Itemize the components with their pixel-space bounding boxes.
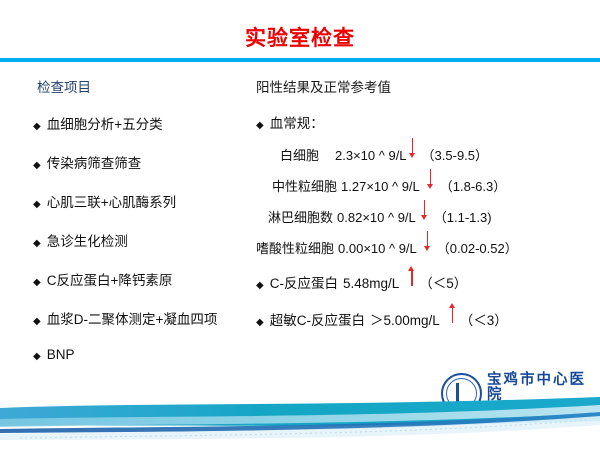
arrow-down-icon: [426, 176, 437, 191]
table-row: 中性粒细胞 1.27×10 ^ 9/L （1.8-6.3）: [256, 176, 596, 195]
list-item: ◆ 传染病筛查筛查: [33, 152, 258, 172]
list-item-label: 传染病筛查筛查: [47, 152, 142, 172]
diamond-bullet-icon: ◆: [33, 200, 41, 210]
lab-name: 白细胞: [280, 145, 319, 164]
list-item: ◆ 超敏C-反应蛋白 ＞5.00mg/L （＜3）: [256, 309, 596, 329]
lab-value: 1.27×10 ^ 9/L: [341, 179, 420, 194]
diamond-bullet-icon: ◆: [33, 352, 41, 362]
diamond-bullet-icon: ◆: [33, 122, 41, 132]
table-row: 淋巴细胞数 0.82×10 ^ 9/L （1.1-1.3): [256, 207, 596, 226]
list-item: ◆ C反应蛋白+降钙素原: [33, 269, 258, 289]
arrow-up-icon: [448, 310, 459, 325]
title-divider: [0, 58, 600, 62]
list-item: ◆ 心肌三联+心肌酶系列: [33, 191, 258, 211]
list-item: ◆ 血细胞分析+五分类: [33, 113, 258, 133]
results-column: 阳性结果及正常参考值 ◆ 血常规： 白细胞 2.3×10 ^ 9/L （3.5-…: [256, 76, 596, 346]
lab-name: 超敏C-反应蛋白: [270, 309, 365, 329]
exam-items-column: 检查项目 ◆ 血细胞分析+五分类 ◆ 传染病筛查筛查 ◆ 心肌三联+心肌酶系列 …: [33, 76, 258, 381]
lab-name: C-反应蛋白: [270, 272, 338, 292]
lab-value: 0.82×10 ^ 9/L: [337, 210, 416, 225]
lab-reference-range: （1.1-1.3): [434, 207, 492, 226]
arrow-up-icon: [407, 273, 418, 288]
lab-value: ＞5.00mg/L: [370, 309, 440, 329]
lab-value: 5.48mg/L: [343, 276, 399, 291]
list-item: ◆ 血浆D-二聚体测定+凝血四项: [33, 308, 258, 328]
page-title: 实验室检查: [0, 22, 600, 52]
diamond-bullet-icon: ◆: [33, 278, 41, 288]
list-item-label: BNP: [47, 347, 75, 362]
list-item-label: 血浆D-二聚体测定+凝血四项: [47, 308, 218, 328]
lab-reference-range: （0.02-0.52）: [437, 238, 518, 257]
blood-panel-label: 血常规：: [270, 112, 324, 132]
table-row: 白细胞 2.3×10 ^ 9/L （3.5-9.5）: [256, 145, 596, 164]
lab-name: 嗜酸性粒细胞: [256, 238, 334, 257]
arrow-down-icon: [420, 207, 431, 222]
diamond-bullet-icon: ◆: [256, 121, 264, 131]
diamond-bullet-icon: ◆: [256, 318, 264, 328]
lab-name: 中性粒细胞: [272, 176, 337, 195]
footer-wave-decoration: [0, 395, 600, 450]
diamond-bullet-icon: ◆: [33, 317, 41, 327]
list-item: ◆ C-反应蛋白 5.48mg/L （＜5）: [256, 272, 596, 292]
lab-reference-range: （3.5-9.5）: [422, 145, 488, 164]
lab-value: 2.3×10 ^ 9/L: [335, 148, 407, 163]
lab-reference-range: （＜5）: [419, 272, 467, 292]
table-row: 嗜酸性粒细胞 0.00×10 ^ 9/L （0.02-0.52）: [256, 238, 596, 257]
arrow-down-icon: [408, 145, 419, 160]
lab-value: 0.00×10 ^ 9/L: [338, 241, 417, 256]
lab-reference-range: （1.8-6.3）: [440, 176, 506, 195]
list-item-label: 急诊生化检测: [47, 230, 128, 250]
list-item-label: C反应蛋白+降钙素原: [47, 269, 173, 289]
exam-items-heading: 检查项目: [37, 76, 258, 96]
blood-panel-header: ◆ 血常规：: [256, 112, 596, 132]
list-item: ◆ 急诊生化检测: [33, 230, 258, 250]
list-item: ◆ BNP: [33, 347, 258, 362]
diamond-bullet-icon: ◆: [256, 281, 264, 291]
list-item-label: 血细胞分析+五分类: [47, 113, 163, 133]
diamond-bullet-icon: ◆: [33, 239, 41, 249]
diamond-bullet-icon: ◆: [33, 161, 41, 171]
lab-name: 淋巴细胞数: [268, 207, 333, 226]
results-heading: 阳性结果及正常参考值: [256, 76, 596, 96]
lab-reference-range: （＜3）: [460, 309, 508, 329]
list-item-label: 心肌三联+心肌酶系列: [47, 191, 176, 211]
arrow-down-icon: [423, 238, 434, 253]
